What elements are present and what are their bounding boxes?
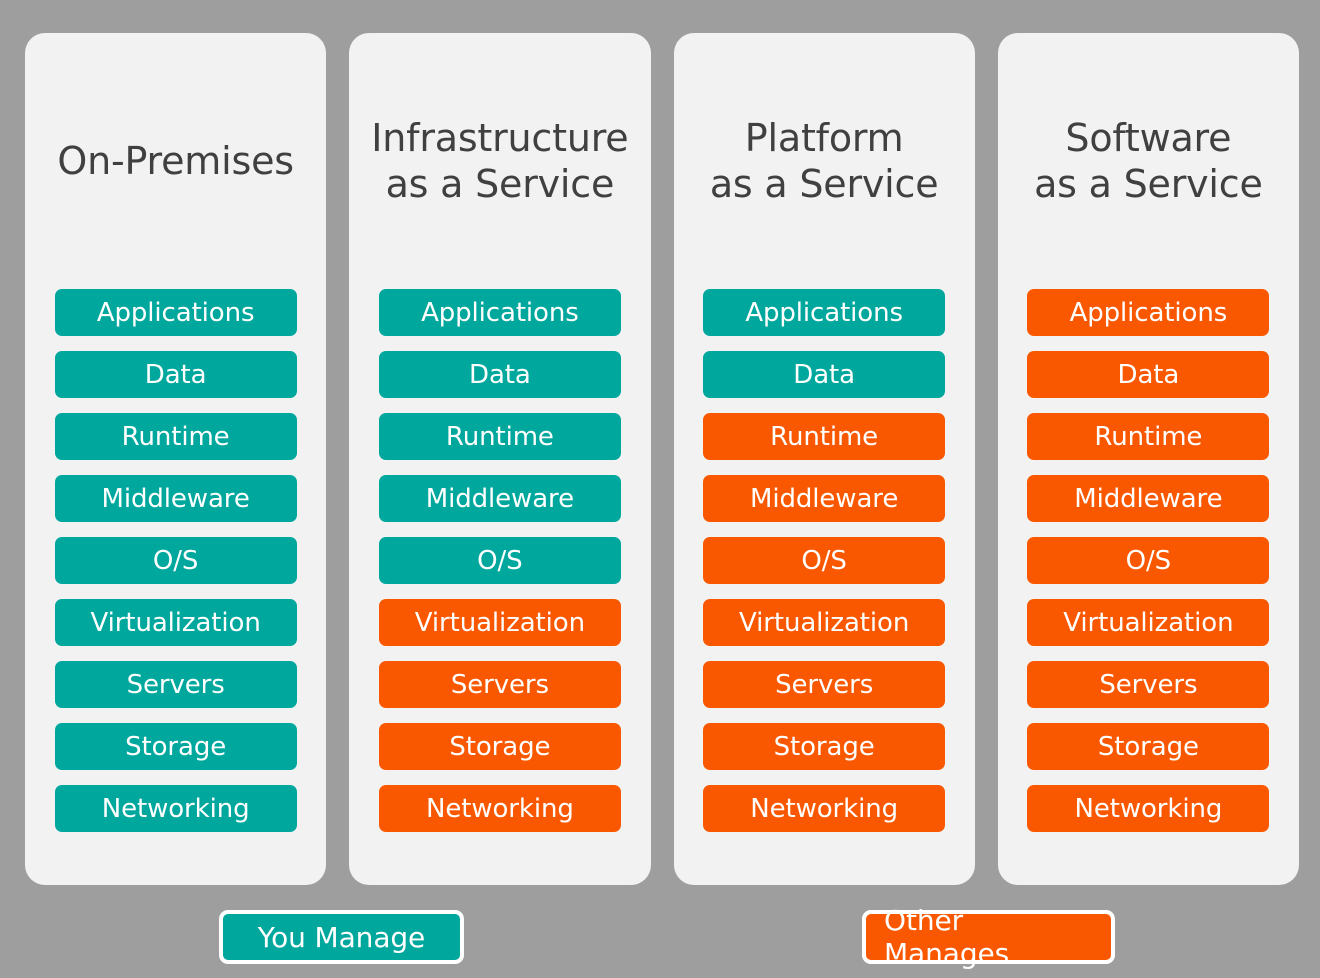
card-title-on-premises: On-Premises [25, 33, 326, 289]
layer-o-s: O/S [1027, 537, 1269, 584]
layer-servers: Servers [379, 661, 621, 708]
layer-storage: Storage [703, 723, 945, 770]
layer-servers: Servers [1027, 661, 1269, 708]
card-platform-as-a-service: Platform as a ServiceApplicationsDataRun… [674, 33, 975, 885]
card-software-as-a-service: Software as a ServiceApplicationsDataRun… [998, 33, 1299, 885]
layer-o-s: O/S [703, 537, 945, 584]
layer-o-s: O/S [55, 537, 297, 584]
layer-data: Data [1027, 351, 1269, 398]
layer-networking: Networking [55, 785, 297, 832]
layer-storage: Storage [379, 723, 621, 770]
layer-storage: Storage [1027, 723, 1269, 770]
layer-servers: Servers [55, 661, 297, 708]
layer-applications: Applications [703, 289, 945, 336]
card-infrastructure-as-a-service: Infrastructure as a ServiceApplicationsD… [349, 33, 650, 885]
layer-applications: Applications [1027, 289, 1269, 336]
layer-stack-platform-as-a-service: ApplicationsDataRuntimeMiddlewareO/SVirt… [703, 289, 945, 832]
layer-data: Data [703, 351, 945, 398]
card-title-platform-as-a-service: Platform as a Service [674, 33, 975, 289]
layer-stack-software-as-a-service: ApplicationsDataRuntimeMiddlewareO/SVirt… [1027, 289, 1269, 832]
layer-data: Data [55, 351, 297, 398]
layer-networking: Networking [379, 785, 621, 832]
layer-middleware: Middleware [55, 475, 297, 522]
layer-runtime: Runtime [1027, 413, 1269, 460]
layer-middleware: Middleware [1027, 475, 1269, 522]
layer-runtime: Runtime [703, 413, 945, 460]
layer-virtualization: Virtualization [55, 599, 297, 646]
legend-you-manage: You Manage [219, 910, 464, 964]
layer-servers: Servers [703, 661, 945, 708]
layer-applications: Applications [55, 289, 297, 336]
layer-runtime: Runtime [379, 413, 621, 460]
layer-stack-on-premises: ApplicationsDataRuntimeMiddlewareO/SVirt… [55, 289, 297, 832]
layer-storage: Storage [55, 723, 297, 770]
layer-middleware: Middleware [703, 475, 945, 522]
card-title-infrastructure-as-a-service: Infrastructure as a Service [349, 33, 650, 289]
card-title-software-as-a-service: Software as a Service [998, 33, 1299, 289]
layer-applications: Applications [379, 289, 621, 336]
layer-stack-infrastructure-as-a-service: ApplicationsDataRuntimeMiddlewareO/SVirt… [379, 289, 621, 832]
layer-middleware: Middleware [379, 475, 621, 522]
service-model-columns: On-PremisesApplicationsDataRuntimeMiddle… [25, 33, 1299, 885]
legend-other-manages: Other Manages [862, 910, 1115, 964]
layer-runtime: Runtime [55, 413, 297, 460]
layer-networking: Networking [703, 785, 945, 832]
card-on-premises: On-PremisesApplicationsDataRuntimeMiddle… [25, 33, 326, 885]
layer-o-s: O/S [379, 537, 621, 584]
layer-data: Data [379, 351, 621, 398]
layer-virtualization: Virtualization [703, 599, 945, 646]
layer-virtualization: Virtualization [1027, 599, 1269, 646]
layer-virtualization: Virtualization [379, 599, 621, 646]
layer-networking: Networking [1027, 785, 1269, 832]
